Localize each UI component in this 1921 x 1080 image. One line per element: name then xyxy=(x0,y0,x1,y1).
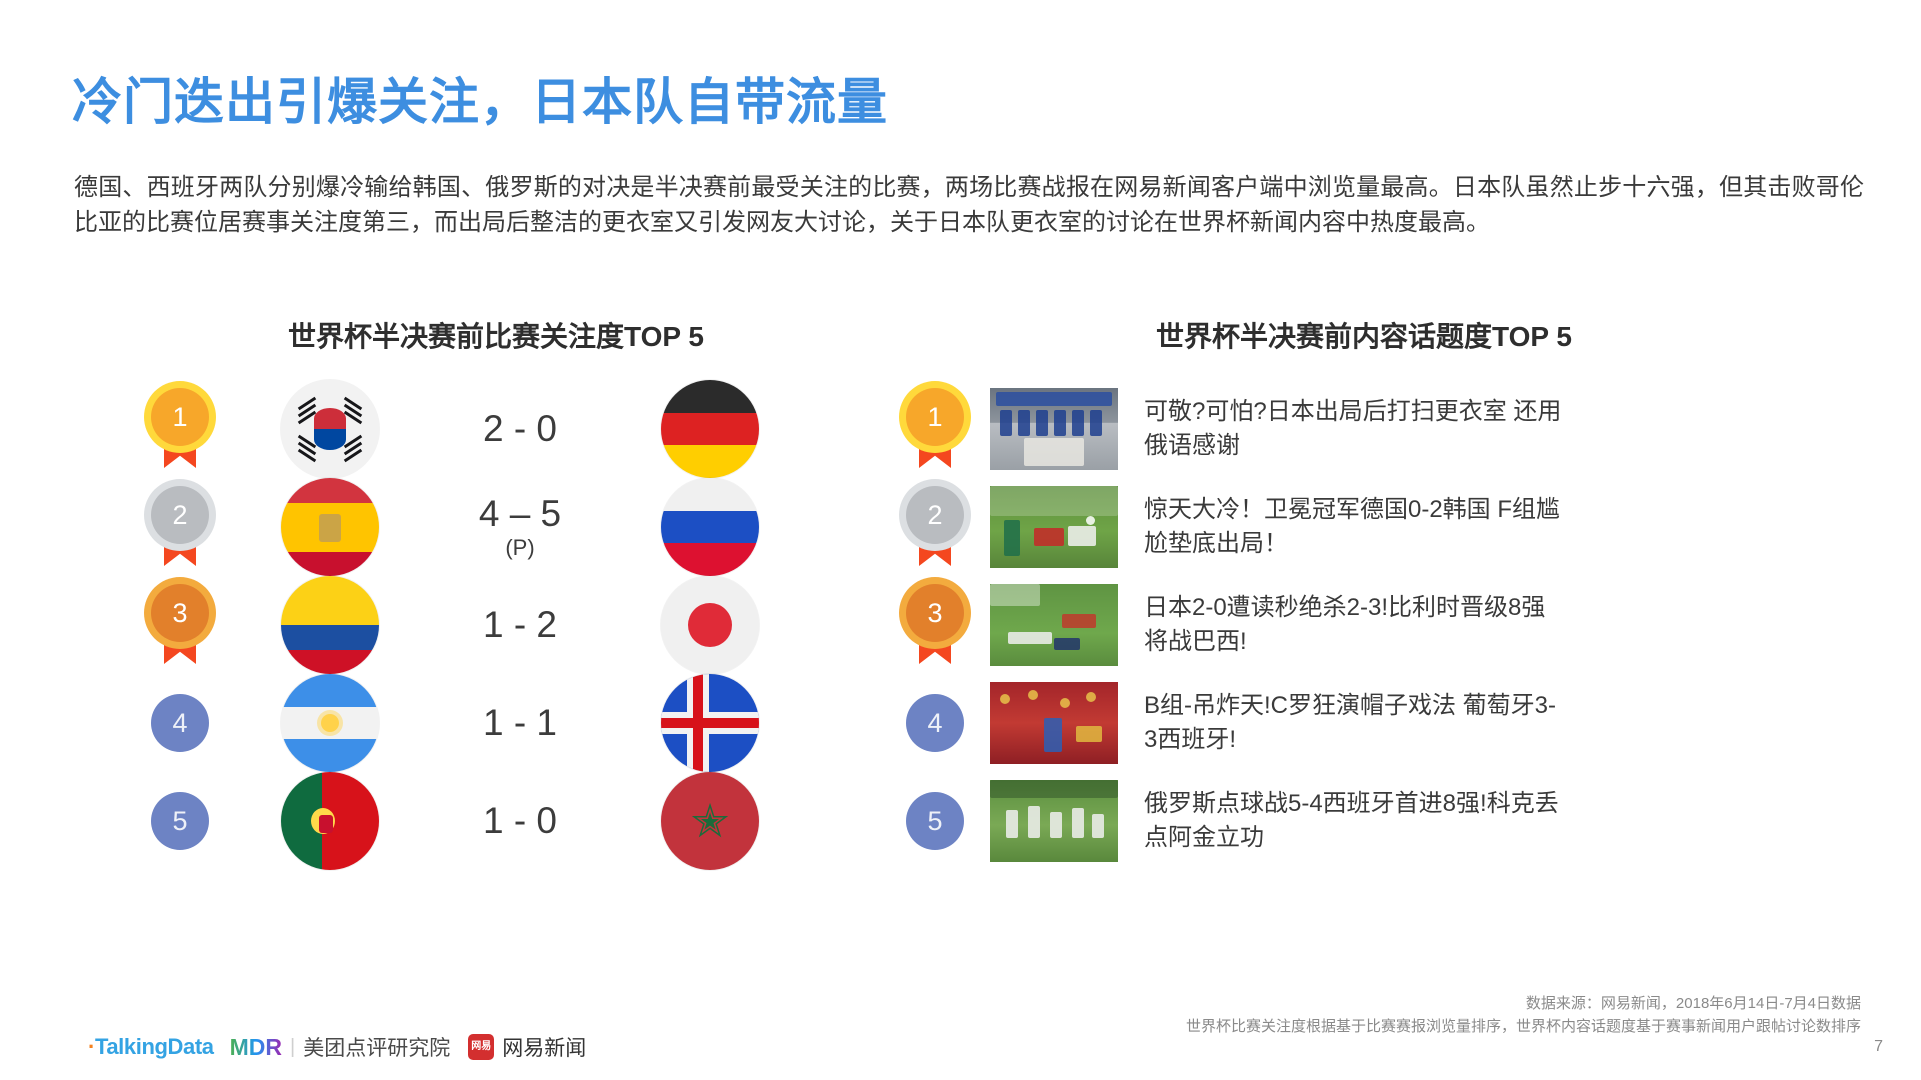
data-source-note: 数据来源：网易新闻，2018年6月14日-7月4日数据 世界杯比赛关注度根据基于… xyxy=(1186,992,1861,1038)
news-headline[interactable]: 日本2-0遭读秒绝杀2-3!比利时晋级8强将战巴西! xyxy=(1144,591,1564,659)
pentagram-icon: ✭ xyxy=(687,798,733,844)
flag-portugal-icon xyxy=(281,772,379,870)
flag-germany-icon xyxy=(661,380,759,478)
medal-silver-icon: 2 xyxy=(151,486,209,568)
rank-badge: 4 xyxy=(151,694,209,752)
talkingdata-logo: ·TalkingData xyxy=(88,1034,214,1060)
home-flag-cell xyxy=(240,674,420,772)
logo-divider: | xyxy=(290,1036,295,1059)
lede-paragraph: 德国、西班牙两队分别爆冷输给韩国、俄罗斯的对决是半决赛前最受关注的比赛，两场比赛… xyxy=(74,170,1864,240)
medal-gold-icon: 1 xyxy=(151,388,209,470)
mdr-logo: MDR xyxy=(230,1034,282,1061)
rank-badge: 4 xyxy=(906,694,964,752)
netease-news-logo: 网易新闻 xyxy=(502,1032,586,1062)
flag-morocco-icon: ✭ xyxy=(661,772,759,870)
flag-iceland-icon xyxy=(661,674,759,772)
news-headline[interactable]: 俄罗斯点球战5-4西班牙首进8强!科克丢点阿金立功 xyxy=(1144,787,1564,855)
medal-silver-icon: 2 xyxy=(906,486,964,568)
away-flag-cell xyxy=(620,380,800,478)
score-cell: 1 - 1 xyxy=(420,704,620,743)
news-thumbnail xyxy=(990,388,1118,470)
score-note: (P) xyxy=(420,536,620,559)
score-value: 1 - 1 xyxy=(483,702,557,743)
table-row: 1 xyxy=(120,380,920,478)
table-row: 3 1 - 2 xyxy=(120,576,920,674)
news-headline[interactable]: 惊天大冷！卫冕冠军德国0-2韩国 F组尴尬垫底出局！ xyxy=(1144,493,1564,561)
rank-cell: 3 xyxy=(880,584,990,666)
netease-badge-icon: 网易 xyxy=(468,1034,494,1060)
topic-ranking-list: 1 可敬?可怕?日本出局后打扫更衣室 还用俄语感谢 2 xyxy=(880,380,1880,870)
page-title: 冷门迭出引爆关注，日本队自带流量 xyxy=(72,62,888,134)
away-flag-cell xyxy=(620,478,800,576)
flag-colombia-icon xyxy=(281,576,379,674)
medal-bronze-icon: 3 xyxy=(906,584,964,666)
score-cell: 2 - 0 xyxy=(420,410,620,449)
score-cell: 1 - 2 xyxy=(420,606,620,645)
rank-number: 3 xyxy=(151,584,209,642)
list-item: 2 惊天大冷！卫冕冠军德国0-2韩国 F组尴尬垫底出局！ xyxy=(880,478,1880,576)
rank-cell: 1 xyxy=(880,388,990,470)
section-heading-topics: 世界杯半决赛前内容话题度TOP 5 xyxy=(1156,315,1572,355)
flag-japan-icon xyxy=(661,576,759,674)
table-row: 2 4 – 5 (P) xyxy=(120,478,920,576)
rank-cell: 2 xyxy=(880,486,990,568)
rank-number: 1 xyxy=(906,388,964,446)
home-flag-cell xyxy=(240,380,420,478)
medal-gold-icon: 1 xyxy=(906,388,964,470)
home-flag-cell xyxy=(240,576,420,674)
rank-cell: 4 xyxy=(880,694,990,752)
match-ranking-list: 1 xyxy=(120,380,920,870)
meituan-research-logo: 美团点评研究院 xyxy=(303,1032,450,1062)
news-thumbnail xyxy=(990,584,1118,666)
score-value: 2 - 0 xyxy=(483,408,557,449)
away-flag-cell xyxy=(620,674,800,772)
flag-argentina-icon xyxy=(281,674,379,772)
rank-badge: 5 xyxy=(906,792,964,850)
news-thumbnail xyxy=(990,682,1118,764)
score-cell: 1 - 0 xyxy=(420,802,620,841)
source-line-2: 世界杯比赛关注度根据基于比赛赛报浏览量排序，世界杯内容话题度基于赛事新闻用户跟帖… xyxy=(1186,1015,1861,1038)
list-item: 1 可敬?可怕?日本出局后打扫更衣室 还用俄语感谢 xyxy=(880,380,1880,478)
logo-accent-dot: · xyxy=(88,1034,95,1059)
medal-bronze-icon: 3 xyxy=(151,584,209,666)
score-value: 1 - 2 xyxy=(483,604,557,645)
flag-korea-icon xyxy=(281,380,379,478)
section-heading-matches: 世界杯半决赛前比赛关注度TOP 5 xyxy=(288,315,704,355)
flag-spain-icon xyxy=(281,478,379,576)
home-flag-cell xyxy=(240,772,420,870)
score-value: 4 – 5 xyxy=(479,493,561,534)
rank-cell: 1 xyxy=(120,388,240,470)
away-flag-cell xyxy=(620,576,800,674)
source-line-1: 数据来源：网易新闻，2018年6月14日-7月4日数据 xyxy=(1186,992,1861,1015)
news-headline[interactable]: 可敬?可怕?日本出局后打扫更衣室 还用俄语感谢 xyxy=(1144,395,1564,463)
rank-number: 1 xyxy=(151,388,209,446)
footer-logo-bar: ·TalkingData MDR | 美团点评研究院 网易 网易新闻 xyxy=(88,1032,586,1062)
rank-number: 3 xyxy=(906,584,964,642)
score-cell: 4 – 5 (P) xyxy=(420,495,620,559)
rank-cell: 5 xyxy=(120,792,240,850)
home-flag-cell xyxy=(240,478,420,576)
rank-cell: 5 xyxy=(880,792,990,850)
slide-page: 冷门迭出引爆关注，日本队自带流量 德国、西班牙两队分别爆冷输给韩国、俄罗斯的对决… xyxy=(0,0,1921,1080)
away-flag-cell: ✭ xyxy=(620,772,800,870)
list-item: 4 B组-吊炸天!C罗狂演帽子戏法 葡萄牙3-3西班牙! xyxy=(880,674,1880,772)
list-item: 5 俄罗斯点球战5-4西班牙首进8强!科克丢点阿金立功 xyxy=(880,772,1880,870)
score-value: 1 - 0 xyxy=(483,800,557,841)
news-headline[interactable]: B组-吊炸天!C罗狂演帽子戏法 葡萄牙3-3西班牙! xyxy=(1144,689,1564,757)
rank-number: 2 xyxy=(906,486,964,544)
table-row: 5 1 - 0 ✭ xyxy=(120,772,920,870)
page-number: 7 xyxy=(1874,1038,1883,1056)
rank-cell: 3 xyxy=(120,584,240,666)
rank-cell: 2 xyxy=(120,486,240,568)
flag-russia-icon xyxy=(661,478,759,576)
news-thumbnail xyxy=(990,780,1118,862)
rank-number: 2 xyxy=(151,486,209,544)
news-thumbnail xyxy=(990,486,1118,568)
table-row: 4 1 - 1 xyxy=(120,674,920,772)
rank-cell: 4 xyxy=(120,694,240,752)
list-item: 3 日本2-0遭读秒绝杀2-3!比利时晋级8强将战巴西! xyxy=(880,576,1880,674)
rank-badge: 5 xyxy=(151,792,209,850)
